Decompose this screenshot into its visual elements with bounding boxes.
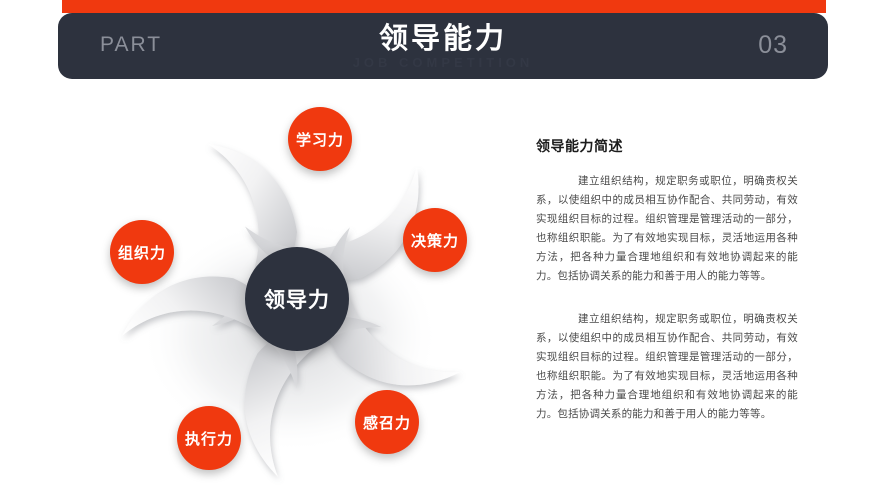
diagram-node-learning[interactable]: 学习力 (288, 107, 352, 171)
content-heading: 领导能力简述 (536, 136, 798, 156)
content-paragraph-2: 建立组织结构，规定职务或职位，明确责权关系，以使组织中的成员相互协作配合、共同劳… (536, 310, 798, 424)
leadership-pinwheel-diagram: 领导力 学习力 决策力 感召力 执行力 组织力 (62, 104, 502, 494)
header-title-bar: PART 领导能力 JOB COMPETITION 03 (58, 13, 828, 79)
header-title-group: 领导能力 JOB COMPETITION (58, 21, 828, 71)
diagram-node-organization[interactable]: 组织力 (110, 220, 174, 284)
page-subtitle: JOB COMPETITION (58, 55, 828, 71)
page-title: 领导能力 (58, 21, 828, 57)
diagram-center-node[interactable]: 领导力 (245, 247, 349, 351)
diagram-node-decision[interactable]: 决策力 (403, 208, 467, 272)
header-section-number: 03 (758, 31, 788, 60)
diagram-node-charisma[interactable]: 感召力 (355, 390, 419, 454)
header-accent-bar (62, 0, 826, 13)
content-panel: 领导能力简述 建立组织结构，规定职务或职位，明确责权关系，以使组织中的成员相互协… (536, 136, 798, 448)
diagram-node-execution[interactable]: 执行力 (177, 406, 241, 470)
slide-header: PART 领导能力 JOB COMPETITION 03 (0, 0, 896, 96)
slide-root: PART 领导能力 JOB COMPETITION 03 (0, 0, 896, 504)
content-paragraph-1: 建立组织结构，规定职务或职位，明确责权关系，以使组织中的成员相互协作配合、共同劳… (536, 172, 798, 286)
